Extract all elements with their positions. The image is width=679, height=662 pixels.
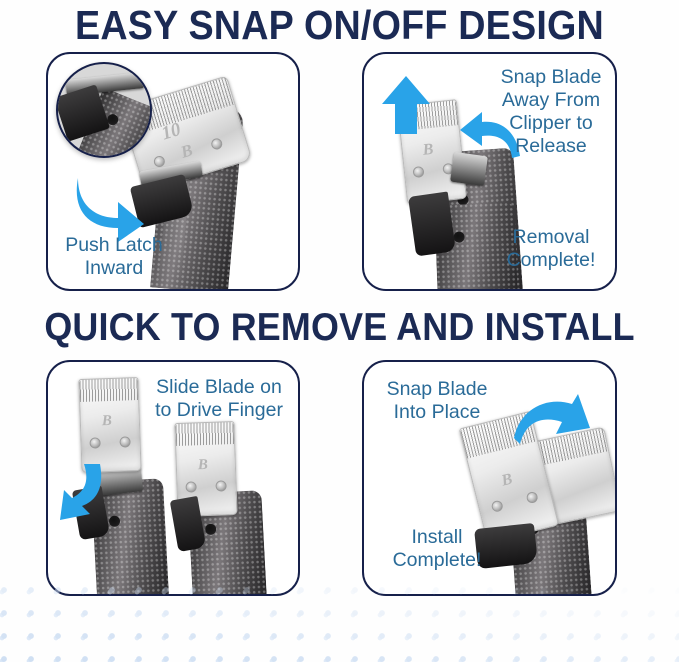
- blade-center-glyph: B: [102, 413, 113, 430]
- blade-screw-right: [119, 436, 130, 447]
- blade-brand-glyph: B: [178, 140, 195, 162]
- latch-arm: [474, 523, 538, 569]
- panel-3-caption: Slide Blade on to Drive Finger: [144, 376, 294, 422]
- magnifier-inset: [56, 62, 152, 158]
- decorative-dot-pattern: [0, 586, 679, 662]
- panel-2-caption: Snap Blade Away From Clipper to Release: [492, 66, 610, 158]
- clipper-blade-snapping: B: [459, 411, 559, 543]
- blade-screw-right: [525, 491, 538, 504]
- page-title-primary: EASY SNAP ON/OFF DESIGN: [27, 2, 652, 49]
- blade-teeth: [398, 100, 458, 131]
- step-panel-slide-blade: B B Slide Blade on to Drive Finger: [46, 360, 300, 596]
- blade-teeth: [79, 378, 138, 402]
- latch-arm: [408, 192, 456, 257]
- panel-4-caption: Snap Blade Into Place: [372, 378, 502, 424]
- step-panel-snap-away: B Snap Blade Away From Clipper to Releas…: [362, 52, 617, 291]
- blade-teeth: [175, 422, 234, 446]
- clipper-blade-left-detached: B: [78, 377, 141, 473]
- blade-center-glyph: B: [198, 457, 209, 474]
- blade-screw-left: [412, 166, 424, 178]
- step-panel-snap-into-place: B Snap Blade Into Place Install Complete…: [362, 360, 617, 596]
- blade-screw-left: [491, 500, 504, 513]
- blade-screw-left: [185, 481, 196, 492]
- blade-screw-left: [89, 437, 100, 448]
- blade-teeth: [460, 412, 537, 459]
- blade-center-glyph: B: [422, 141, 434, 160]
- drive-finger: [450, 152, 488, 186]
- blade-screw-right: [215, 480, 226, 491]
- step-panel-push-latch: 10 B Push Latch Inward: [46, 52, 300, 291]
- blade-center-glyph: B: [500, 471, 515, 491]
- page-title-secondary: QUICK TO REMOVE AND INSTALL: [27, 306, 652, 350]
- infographic-root: EASY SNAP ON/OFF DESIGN 10 B Push Latch …: [0, 0, 679, 662]
- blade-screw-right: [210, 137, 224, 151]
